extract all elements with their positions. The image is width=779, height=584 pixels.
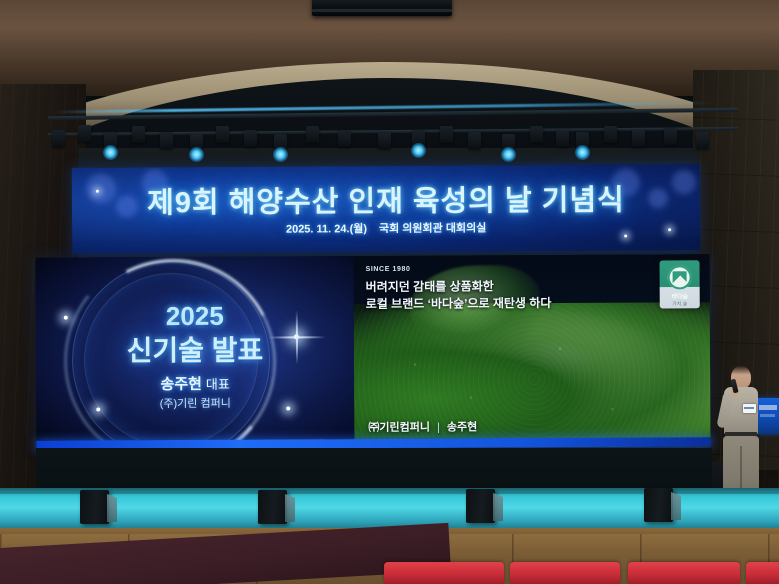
stage-lamp [306,126,319,143]
footer-separator: | [437,422,440,434]
slide-left-speaker: 송주현대표 [36,372,354,395]
brand-badge-sub: 가치,숲 [660,300,700,307]
stage-lamp-lit [274,134,287,151]
ceiling-projector-box [312,0,452,16]
stage-lamp-lit [412,130,425,147]
brand-badge: 바다숲 가치,숲 [660,260,700,308]
floor-monitor-speaker [258,490,287,524]
stage-lamp [378,132,391,149]
stage-lamp [160,132,173,149]
stage-lamp-lit [104,132,117,149]
led-presentation-wall: 2025 신기술 발표 송주현대표 (주)기린 컴퍼니 SINCE 1980 버… [36,254,711,450]
audience-seat [746,562,779,584]
stage-lamp [664,128,677,145]
stage-lamp [604,126,617,143]
floor-monitor-speaker [466,489,495,523]
slide-right-line2: 로컬 브랜드 ‘바다숲’으로 재탄생 하다 [366,294,552,312]
slide-left-company: (주)기린 컴퍼니 [36,394,354,412]
stage-lamp-lit [190,134,203,151]
stage-lamp [530,126,543,143]
footer-company: ㈜기린컴퍼니 [368,422,430,434]
brand-emblem-icon [668,265,692,289]
floor-monitor-speaker [644,488,673,522]
stage-lamp [556,130,569,147]
banner-venue: 국회 의원회관 대회의실 [379,222,486,235]
floor-monitor-speaker [80,490,109,524]
footer-speaker: 송주현 [447,421,477,433]
slide-right-since: SINCE 1980 [366,266,411,273]
stage-lamp [216,126,229,143]
lighting-truss [48,100,738,166]
stage-lamp [244,130,257,147]
banner-subtitle: 2025. 11. 24.(월)국회 의원회관 대회의실 [72,218,700,238]
stage-lamp-lit [576,132,589,149]
stage-lamp [132,126,145,143]
stage-backdrop-dark [36,448,712,490]
stage-lamp [440,126,453,143]
brand-badge-name: 바다숲 [660,291,700,300]
slide-left: 2025 신기술 발표 송주현대표 (주)기린 컴퍼니 [36,256,355,450]
stage-lamp-lit [502,134,515,151]
stage-lamp [468,132,481,149]
banner-date: 2025. 11. 24.(월) [286,223,367,235]
audience-seat [384,562,504,584]
speaker-role: 대표 [206,377,230,392]
stage-lamp [78,125,91,142]
stage-lamp [696,132,709,149]
audience-seat [510,562,620,584]
auditorium-stage-photo: 제9회 해양수산 인재 육성의 날 기념식 2025. 11. 24.(월)국회… [0,0,779,584]
banner-title: 제9회 해양수산 인재 육성의 날 기념식 [72,176,700,222]
slide-right: SINCE 1980 버려지던 감태를 상품화한 로컬 브랜드 ‘바다숲’으로 … [353,254,710,448]
sparkle [624,235,627,238]
led-banner: 제9회 해양수산 인재 육성의 날 기념식 2025. 11. 24.(월)국회… [72,164,701,254]
audience-seat [628,562,740,584]
presenter-name-badge [743,404,756,413]
stage-lamp [338,130,351,147]
slide-right-footer: ㈜기린컴퍼니|송주현 [368,418,477,435]
slide-left-headline: 신기술 발표 [36,328,354,370]
slide-right-line1: 버려지던 감태를 상품화한 [366,277,494,295]
stage-lamp [52,130,65,147]
stage-lamp [632,130,645,147]
speaker-name: 송주현 [160,376,201,393]
